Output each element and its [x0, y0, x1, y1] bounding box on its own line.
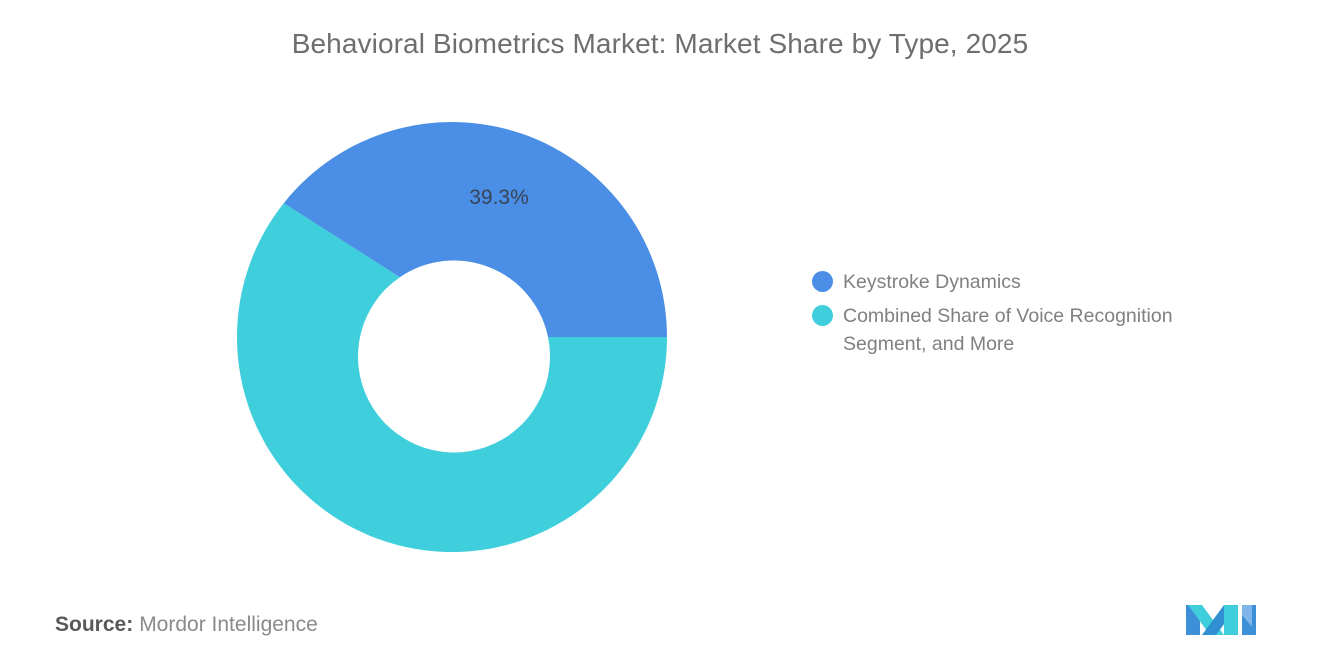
legend-item-combined-share[interactable]: Combined Share of Voice Recognition Segm… — [812, 302, 1272, 358]
source-label: Source: — [55, 613, 133, 636]
chart-legend: Keystroke Dynamics Combined Share of Voi… — [812, 268, 1272, 364]
mordor-intelligence-logo-icon — [1184, 597, 1260, 639]
legend-item-keystroke-dynamics[interactable]: Keystroke Dynamics — [812, 268, 1272, 296]
legend-swatch-icon-keystroke-dynamics — [812, 271, 833, 292]
chart-canvas: Behavioral Biometrics Market: Market Sha… — [0, 0, 1320, 665]
page-title: Behavioral Biometrics Market: Market Sha… — [0, 28, 1320, 60]
legend-label-keystroke-dynamics: Keystroke Dynamics — [843, 268, 1021, 296]
donut-chart: 39.3% — [237, 122, 667, 552]
source-line: Source:Mordor Intelligence — [55, 613, 318, 637]
legend-swatch-icon-combined-share — [812, 305, 833, 326]
donut-chart-svg — [237, 122, 667, 552]
source-value: Mordor Intelligence — [139, 613, 318, 636]
legend-label-combined-share: Combined Share of Voice Recognition Segm… — [843, 302, 1233, 358]
